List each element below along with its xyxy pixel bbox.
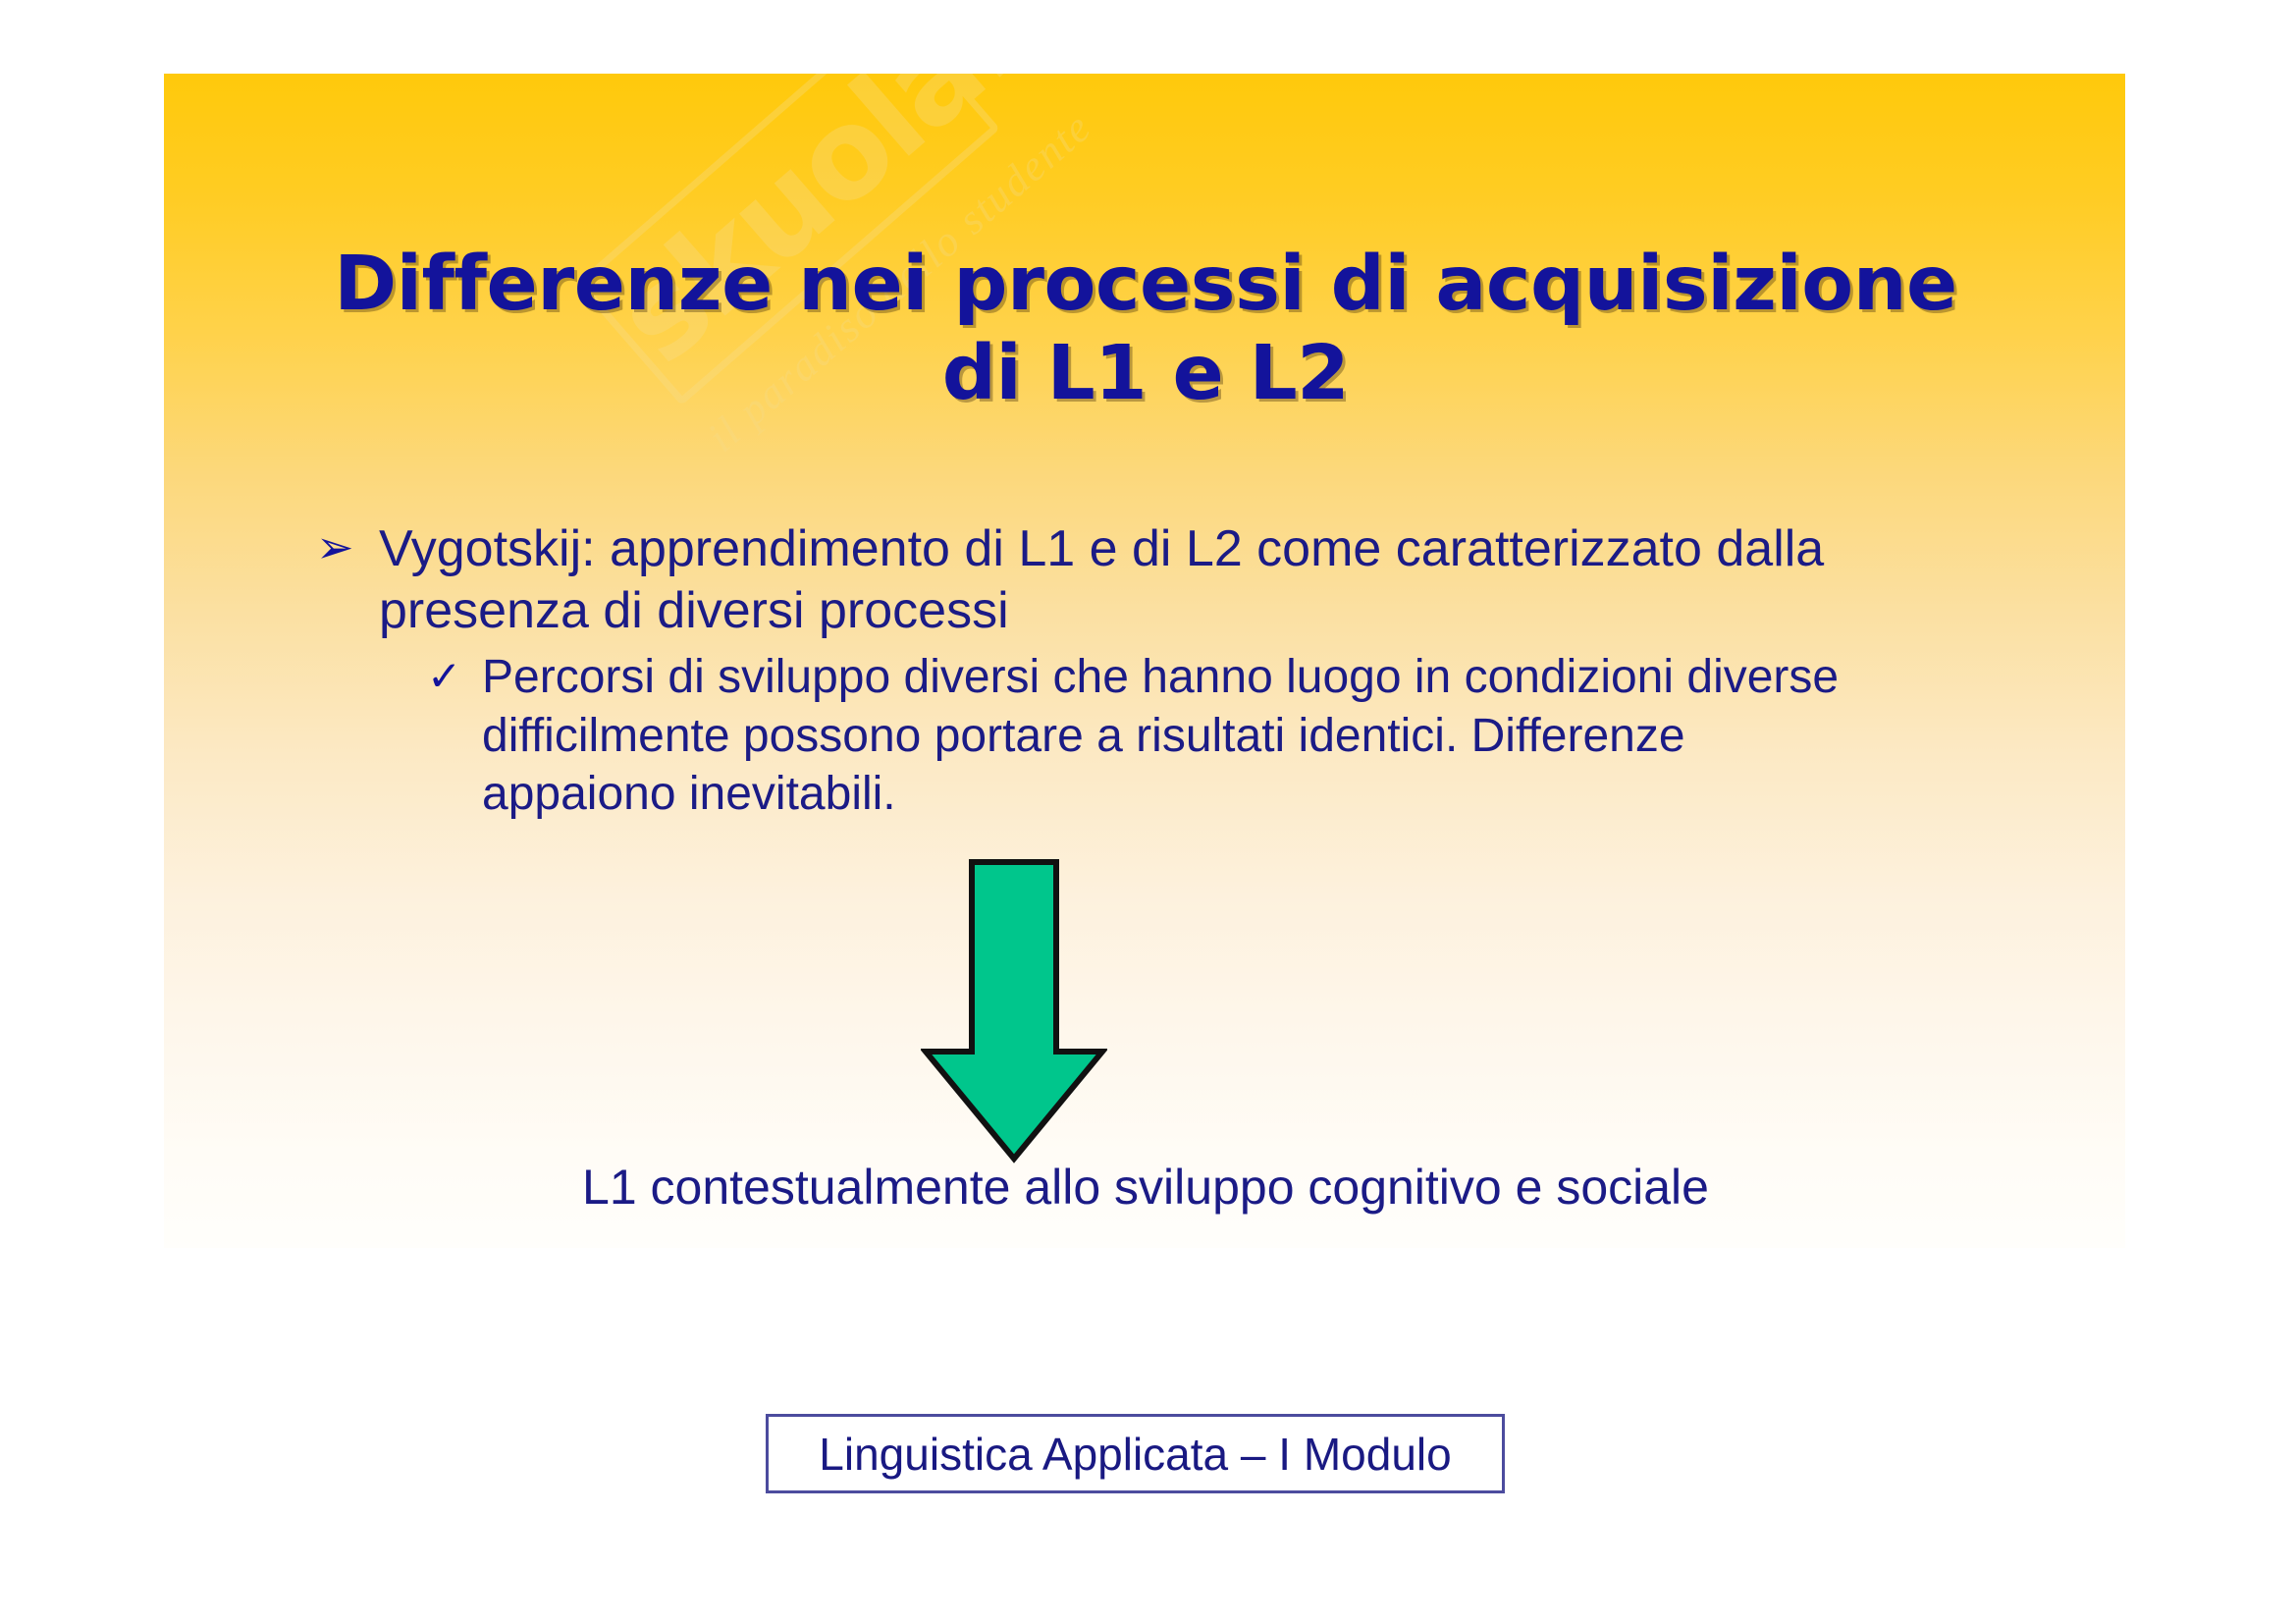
down-arrow-icon xyxy=(921,859,1107,1163)
presentation-slide: skuola.net il paradiso dello studente Di… xyxy=(164,74,2125,1248)
bullet-item-level1: ➢ Vygotskij: apprendimento di L1 e di L2… xyxy=(316,518,1965,643)
bullet-level2-text: Percorsi di sviluppo diversi che hanno l… xyxy=(482,648,1860,824)
check-bullet-marker-icon: ✓ xyxy=(427,648,482,704)
arrow-caption-text: L1 contestualmente allo sviluppo cogniti… xyxy=(282,1158,2009,1217)
footer-label-box: Linguistica Applicata – I Modulo xyxy=(766,1414,1505,1493)
slide-body: ➢ Vygotskij: apprendimento di L1 e di L2… xyxy=(164,74,2125,1248)
bullet-item-level2: ✓ Percorsi di sviluppo diversi che hanno… xyxy=(427,648,1860,824)
footer-label-text: Linguistica Applicata – I Modulo xyxy=(819,1432,1451,1477)
slide-page: skuola.net il paradiso dello studente Di… xyxy=(0,0,2296,1623)
bullet-level1-text: Vygotskij: apprendimento di L1 e di L2 c… xyxy=(379,518,1965,643)
arrow-bullet-marker-icon: ➢ xyxy=(316,518,379,577)
